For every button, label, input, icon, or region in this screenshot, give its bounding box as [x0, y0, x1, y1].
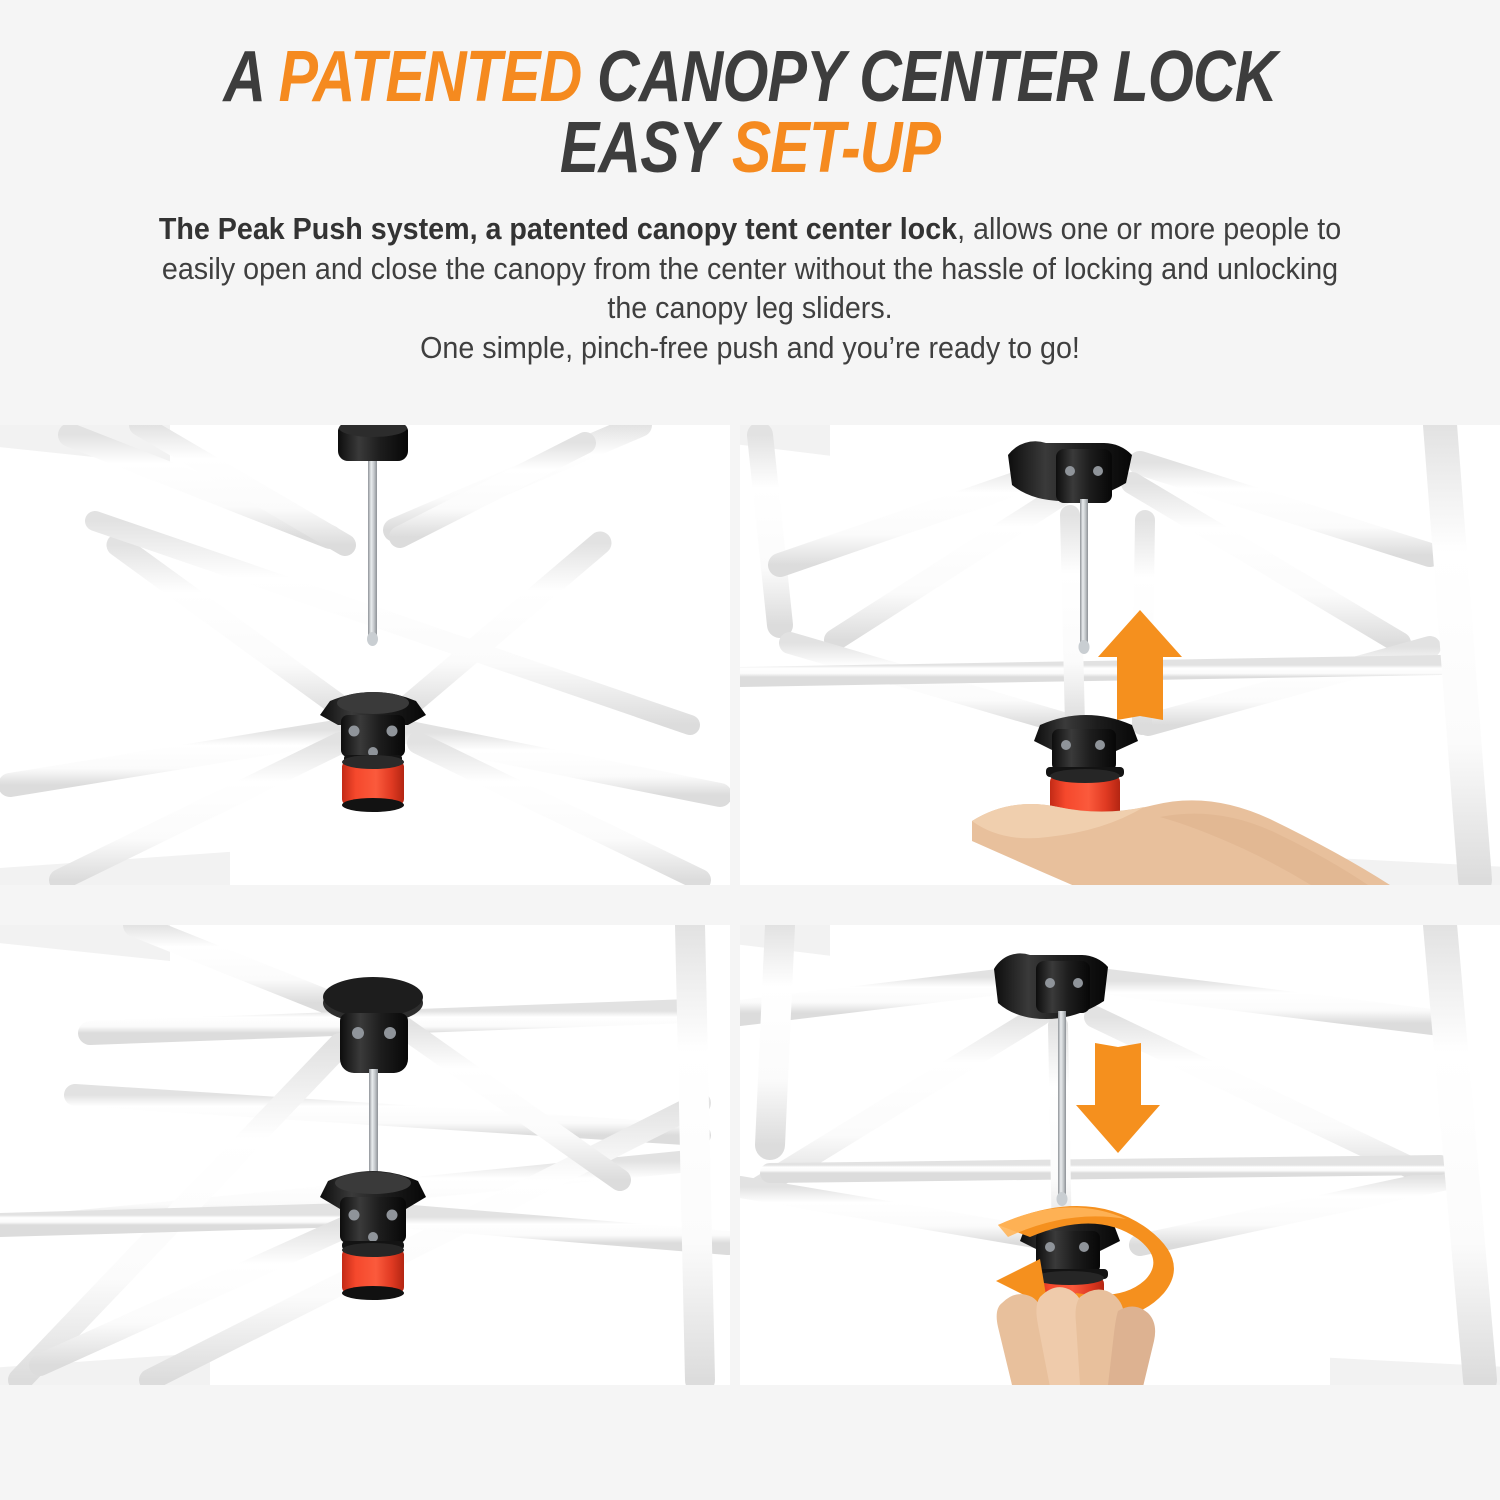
panel-pull-down-twist [740, 925, 1500, 1385]
page-title: A PATENTED CANOPY CENTER LOCK EASY SET-U… [135, 44, 1365, 182]
title-highlight-setup: SET-UP [732, 108, 940, 188]
arrow-down-icon [1076, 1043, 1160, 1153]
canopy-frame-illustration-4 [740, 925, 1500, 1385]
title-highlight-patented: PATENTED [279, 37, 582, 117]
red-push-base [342, 755, 404, 812]
canopy-frame-illustration-3 [0, 925, 730, 1385]
description-paragraph: The Peak Push system, a patented canopy … [144, 210, 1357, 369]
page-subtitle-heading: EASY SET-UP [135, 115, 1365, 182]
canopy-frame-illustration-1 [0, 425, 730, 885]
upper-hub [338, 425, 408, 461]
header: A PATENTED CANOPY CENTER LOCK EASY SET-U… [0, 0, 1500, 368]
description-bold-lead: The Peak Push system, a patented canopy … [159, 212, 957, 246]
title-text-part2: CANOPY CENTER LOCK [581, 37, 1276, 117]
red-push-base [342, 1243, 404, 1300]
panel-push-up [740, 425, 1500, 885]
description-closing-line: One simple, pinch-free push and you’re r… [144, 329, 1357, 369]
upper-hub [1008, 441, 1132, 503]
center-lock-hub [1034, 715, 1138, 777]
infographic-page: A PATENTED CANOPY CENTER LOCK EASY SET-U… [0, 0, 1500, 1500]
panel-collapsed-frame [0, 425, 730, 885]
image-panel-grid [0, 425, 1500, 1445]
open-palm-hand [972, 800, 1450, 885]
canopy-frame-illustration-2 [740, 425, 1500, 885]
title-text-part1: A [223, 37, 278, 117]
panel-locked-frame [0, 925, 730, 1385]
title-line2-text: EASY [560, 108, 732, 188]
